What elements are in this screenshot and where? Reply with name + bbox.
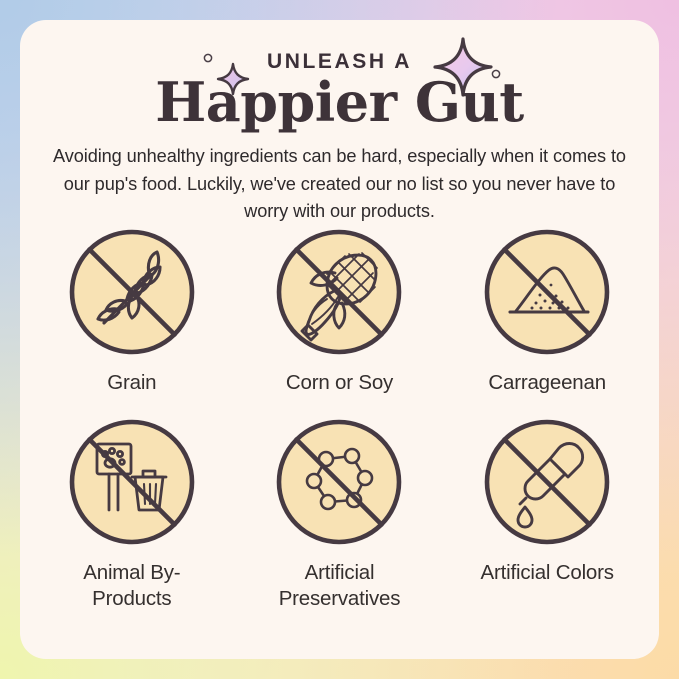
page-title: Happier Gut: [20, 75, 659, 129]
no-list-label: Corn or Soy: [286, 370, 393, 396]
badge-animal-by-products: [65, 415, 199, 549]
no-list-item-animal-by-products: Animal By-Products: [28, 415, 236, 605]
content-card: UNLEASH A Happier Gut Avoiding unhealthy…: [20, 20, 659, 659]
no-list-label: Carrageenan: [488, 370, 605, 396]
no-list-item-artificial-preservatives: Artificial Preservatives: [236, 415, 444, 605]
corn-cob-icon: [272, 225, 406, 359]
no-list-item-corn-or-soy: Corn or Soy: [236, 225, 444, 415]
poster: UNLEASH A Happier Gut Avoiding unhealthy…: [0, 0, 679, 679]
no-list-grid: Grain: [28, 225, 651, 605]
no-list-label: Grain: [107, 370, 156, 396]
intro-paragraph: Avoiding unhealthy ingredients can be ha…: [44, 143, 635, 226]
no-list-item-artificial-colors: Artificial Colors: [443, 415, 651, 605]
badge-grain: [65, 225, 199, 359]
badge-artificial-preservatives: [272, 415, 406, 549]
no-list-label: Artificial Preservatives: [254, 560, 424, 612]
badge-corn-or-soy: [272, 225, 406, 359]
no-list-item-grain: Grain: [28, 225, 236, 415]
no-list-item-carrageenan: Carrageenan: [443, 225, 651, 415]
powder-pile-icon: [480, 225, 614, 359]
sign-post-trash-can-icon: [65, 415, 199, 549]
no-list-label: Artificial Colors: [481, 560, 614, 586]
badge-artificial-colors: [480, 415, 614, 549]
wheat-stalk-icon: [65, 225, 199, 359]
eyedropper-icon: [480, 415, 614, 549]
no-list-label: Animal By-Products: [47, 560, 217, 612]
hexagon-molecule-icon: [272, 415, 406, 549]
badge-carrageenan: [480, 225, 614, 359]
